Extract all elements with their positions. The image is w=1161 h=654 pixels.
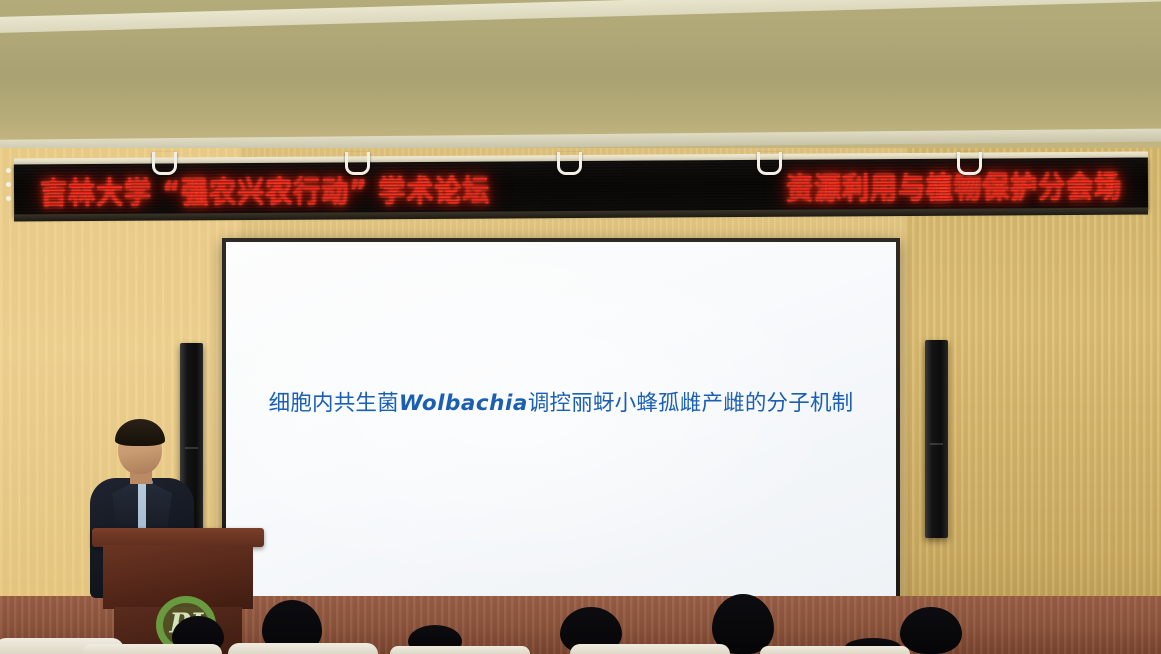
- banner-hook-icon: [345, 152, 370, 175]
- banner-right-text: 资源利用与植物保护分会场: [786, 162, 1122, 208]
- audience-head: [900, 607, 962, 654]
- banner-hook-icon: [957, 152, 982, 175]
- banner-stud-icon: [6, 168, 11, 173]
- banner-stud-icon: [6, 182, 11, 187]
- seat-back: [228, 643, 378, 654]
- conference-hall-photo: 吉林大学 “强农兴农行动” 学术论坛 资源利用与植物保护分会场 细胞内共生菌Wo…: [0, 0, 1161, 654]
- projection-screen: [226, 242, 896, 614]
- seat-back: [570, 644, 730, 654]
- banner-hook-icon: [557, 152, 582, 175]
- banner-hook-icon: [757, 152, 782, 175]
- seat-back: [82, 644, 222, 654]
- banner-stud-icon: [6, 196, 11, 201]
- banner-left-text: 吉林大学 “强农兴农行动” 学术论坛: [40, 166, 491, 212]
- seat-back: [760, 646, 910, 654]
- slide-title-prefix: 细胞内共生菌: [269, 391, 399, 416]
- banner-hook-icon: [152, 152, 177, 175]
- slide-title-suffix: 调控丽蚜小蜂孤雌产雌的分子机制: [528, 391, 854, 416]
- slide-title-latin: Wolbachia: [399, 391, 528, 416]
- seat-back: [390, 646, 530, 654]
- speaker-hair: [115, 419, 165, 446]
- wall-speaker-right: [925, 340, 948, 538]
- slide-title: 细胞内共生菌Wolbachia调控丽蚜小蜂孤雌产雌的分子机制: [246, 386, 876, 417]
